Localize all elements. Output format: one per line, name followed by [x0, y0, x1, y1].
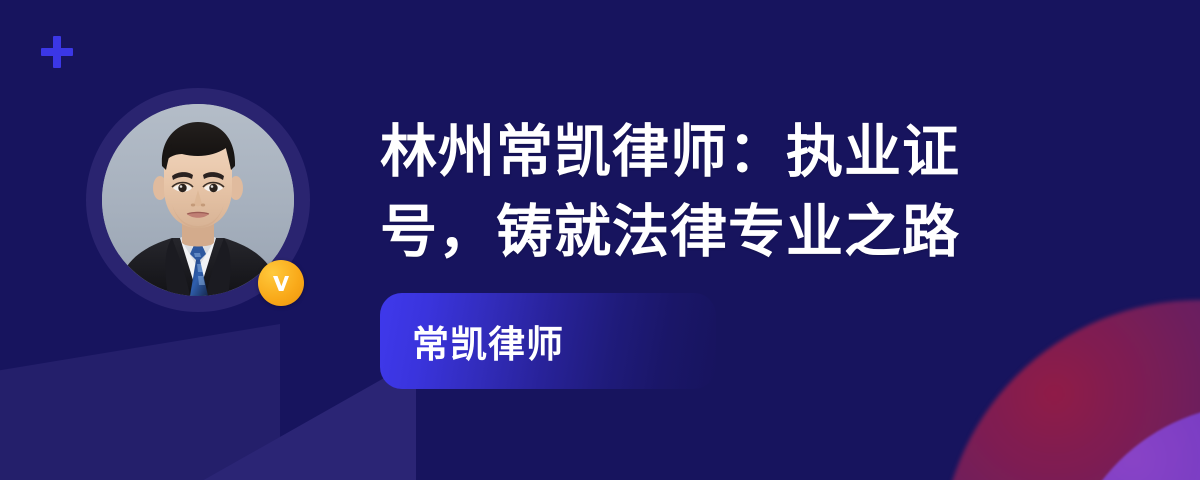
lawyer-name-button[interactable]: 常凯律师	[380, 293, 716, 389]
banner-content: 林州常凯律师：执业证号，铸就法律专业之路	[380, 112, 1020, 272]
avatar	[86, 88, 310, 312]
glow-circle-inner	[1062, 404, 1200, 480]
glow-circle-outer	[940, 300, 1200, 480]
verified-badge	[258, 260, 304, 306]
decor-polygon-stem	[150, 382, 186, 480]
lawyer-profile-banner: 林州常凯律师：执业证号，铸就法律专业之路 常凯律师	[0, 0, 1200, 480]
decor-triangle-right	[186, 360, 416, 480]
verified-v-icon	[268, 270, 294, 296]
plus-icon	[41, 36, 73, 68]
page-title: 林州常凯律师：执业证号，铸就法律专业之路	[380, 112, 1020, 272]
